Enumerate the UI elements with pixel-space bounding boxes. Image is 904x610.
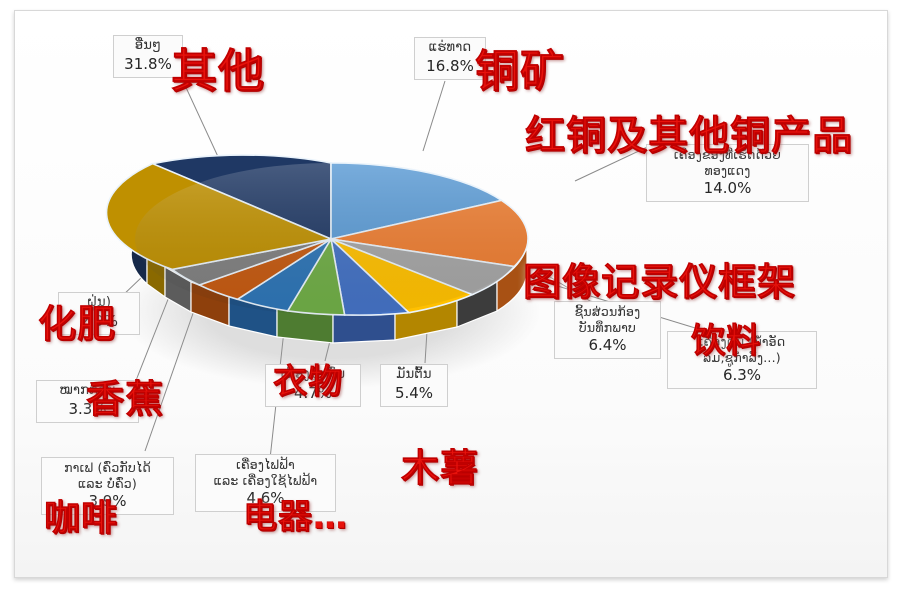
callout-copper-ore-pct: 16.8% <box>419 57 481 76</box>
callout-camera-part: ຊິ້ນສ່ວນກ້ອງ ບັນທຶກພາບ 6.4% <box>554 301 661 359</box>
chart-canvas: ອື່ນໆ 31.8% ແຮ່ທາດ 16.8% ເຄື່ອງຂອງທີ່ເຮັ… <box>15 11 887 577</box>
callout-other-lao: ອື່ນໆ <box>118 38 178 54</box>
screenshot-root: ອື່ນໆ 31.8% ແຮ່ທາດ 16.8% ເຄື່ອງຂອງທີ່ເຮັ… <box>0 0 904 610</box>
callout-coffee-lao-1: ກາເຟ (ຄົ່ວກັບໄດ້ <box>46 460 169 476</box>
annotation-beverage: 饮料 <box>691 313 761 362</box>
callout-camera-part-lao-2: ບັນທຶກພາບ <box>559 320 656 336</box>
callout-copper-prod-lao-2: ທອງແດງ <box>651 163 804 179</box>
annotation-copper-prod: 红铜及其他铜产品 <box>525 103 853 161</box>
callout-electric-lao-1: ເຄື່ອງໄຟຟ້າ <box>200 457 331 473</box>
annotation-banana: 香蕉 <box>86 368 164 423</box>
callout-copper-prod-pct: 14.0% <box>651 179 804 198</box>
annotation-copper-ore: 铜矿 <box>475 35 565 99</box>
callout-camera-part-lao-1: ຊິ້ນສ່ວນກ້ອງ <box>559 304 656 320</box>
callout-cassava-pct: 5.4% <box>385 384 443 403</box>
callout-cassava: ມັນຕົ້ນ 5.4% <box>380 364 448 407</box>
callout-camera-part-pct: 6.4% <box>559 336 656 355</box>
annotation-fertilizer: 化肥 <box>38 293 116 348</box>
callout-copper-ore-lao: ແຮ່ທາດ <box>419 40 481 56</box>
annotation-cassava: 木薯 <box>401 437 479 492</box>
annotation-coffee: 咖啡 <box>44 489 118 541</box>
annotation-other: 其他 <box>171 35 265 101</box>
annotation-clothing: 衣物 <box>273 354 343 403</box>
image-frame: ອື່ນໆ 31.8% ແຮ່ທາດ 16.8% ເຄື່ອງຂອງທີ່ເຮັ… <box>14 10 888 578</box>
annotation-electric: 电器… <box>243 489 348 538</box>
annotation-camera-part: 图像记录仪框架 <box>523 251 796 306</box>
callout-cassava-lao: ມັນຕົ້ນ <box>385 367 443 383</box>
callout-beverage-pct: 6.3% <box>672 366 812 385</box>
callout-other-pct: 31.8% <box>118 55 178 74</box>
callout-electric-lao-2: ແລະ ເຄື່ອງໃຊ້ໄຟຟ້າ <box>200 473 331 489</box>
